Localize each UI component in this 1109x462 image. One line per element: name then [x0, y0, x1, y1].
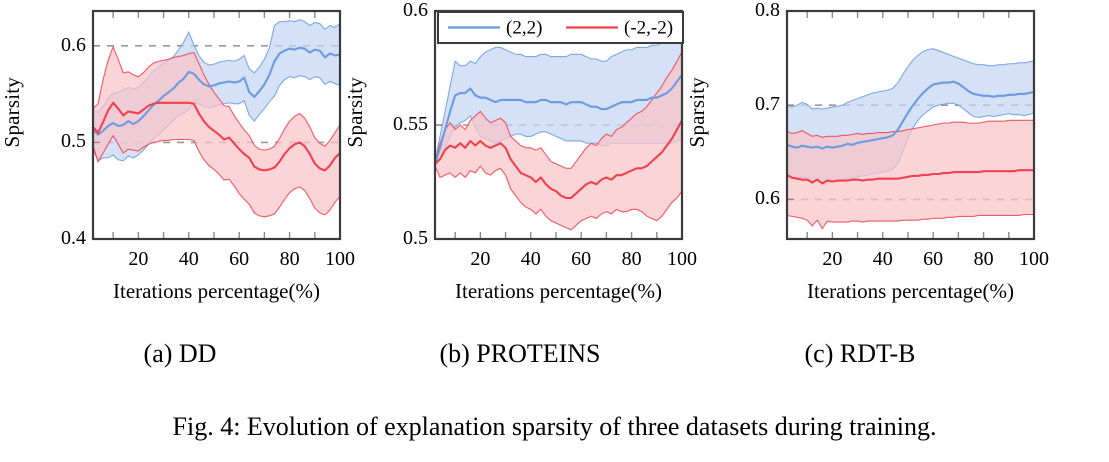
y-axis-title-left: Sparsity	[2, 77, 23, 147]
y-tick-label: 0.7	[695, 94, 780, 114]
x-tick-label: 100	[310, 249, 370, 269]
x-axis-title: Iterations percentage(%)	[53, 281, 380, 302]
x-tick-label: 100	[1004, 249, 1064, 269]
chart-panel-dd: 0.40.50.620406080100Iterations percentag…	[0, 0, 370, 310]
y-tick-label: 0.6	[695, 188, 780, 208]
figure-root: 0.40.50.620406080100Iterations percentag…	[0, 0, 1109, 462]
y-axis-title-right: Sparsity	[345, 77, 366, 147]
legend-label-1: (-2,-2)	[624, 18, 673, 39]
y-tick-label: 0.55	[343, 114, 428, 134]
y-tick-label: 0.6	[343, 0, 428, 20]
x-axis-title: Iterations percentage(%)	[395, 281, 722, 302]
subcaption-rdtb: (c) RDT-B	[700, 336, 1020, 371]
x-tick-label: 100	[652, 249, 712, 269]
x-axis-title: Iterations percentage(%)	[747, 281, 1074, 302]
chart-panel-proteins: (2,2)(-2,-2)0.50.550.620406080100Iterati…	[370, 0, 740, 310]
y-tick-label: 0.4	[1, 228, 86, 248]
y-tick-label: 0.5	[343, 228, 428, 248]
subcaption-row: (a) DD (b) PROTEINS (c) RDT-B	[0, 336, 1109, 382]
panels-row: 0.40.50.620406080100Iterations percentag…	[0, 0, 1109, 310]
y-tick-label: 0.8	[695, 0, 780, 20]
legend-label-0: (2,2)	[506, 18, 542, 39]
subcaption-proteins: (b) PROTEINS	[360, 336, 680, 371]
figure-caption: Fig. 4: Evolution of explanation sparsit…	[0, 410, 1109, 444]
chart-panel-rdtb: 0.60.70.820406080100Iterations percentag…	[739, 0, 1109, 310]
subcaption-dd: (a) DD	[20, 336, 340, 371]
y-tick-label: 0.6	[1, 35, 86, 55]
